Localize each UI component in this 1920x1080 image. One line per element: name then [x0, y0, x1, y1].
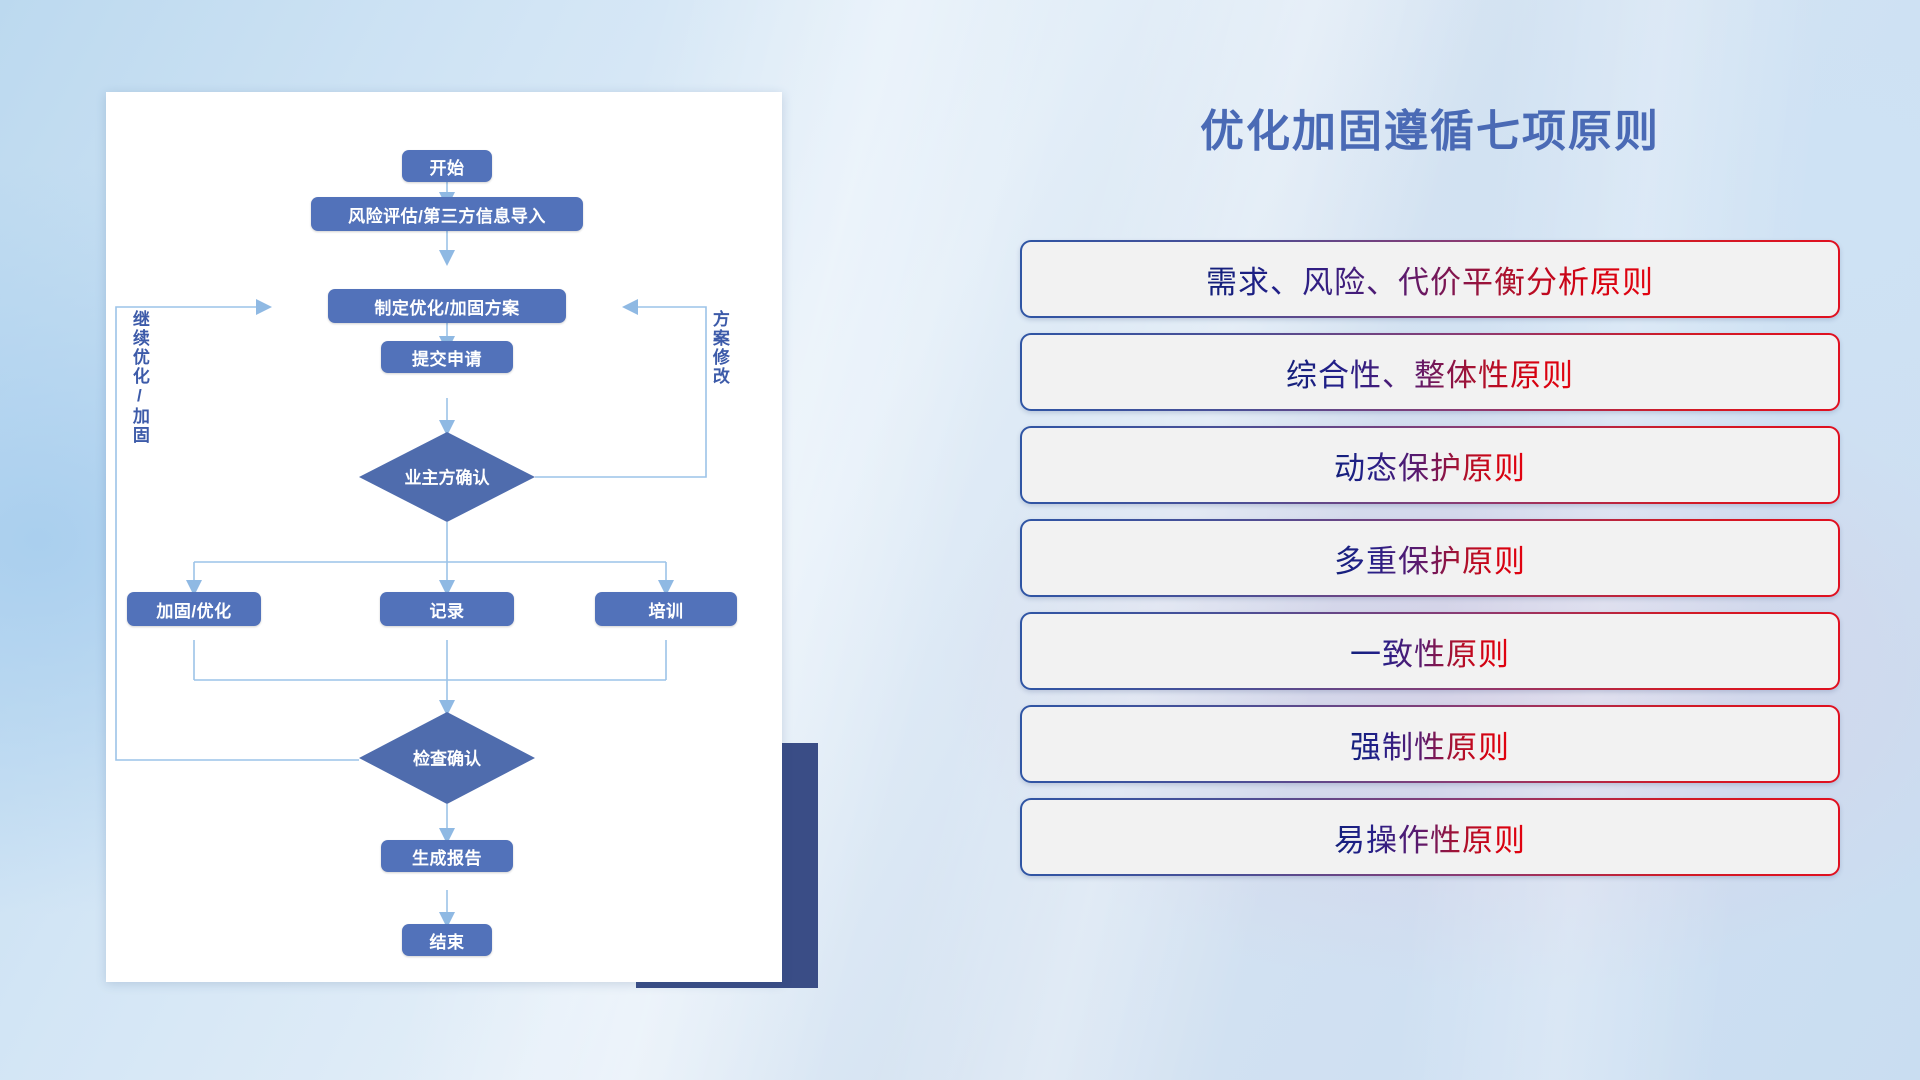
principles-list: 需求、风险、代价平衡分析原则 综合性、整体性原则 动态保护原则 多重保护原则 一…	[1020, 240, 1840, 891]
principle-card-inner: 动态保护原则	[1022, 428, 1838, 502]
node-make-plan-label: 制定优化/加固方案	[374, 294, 519, 319]
principle-card[interactable]: 一致性原则	[1020, 612, 1840, 690]
principle-card[interactable]: 多重保护原则	[1020, 519, 1840, 597]
decision-owner-confirm-label: 业主方确认	[405, 464, 490, 489]
principle-card-label: 动态保护原则	[1334, 443, 1526, 488]
node-generate-report[interactable]: 生成报告	[381, 840, 513, 872]
principle-card[interactable]: 易操作性原则	[1020, 798, 1840, 876]
node-start-label: 开始	[430, 154, 465, 179]
node-training[interactable]: 培训	[595, 592, 737, 626]
principle-card[interactable]: 强制性原则	[1020, 705, 1840, 783]
principle-card[interactable]: 需求、风险、代价平衡分析原则	[1020, 240, 1840, 318]
flowchart-canvas: 开始 风险评估/第三方信息导入 制定优化/加固方案 提交申请 加固/优化 记录 …	[106, 92, 782, 982]
node-risk-assessment[interactable]: 风险评估/第三方信息导入	[311, 197, 583, 231]
edge-label-plan-revision: 方案修改	[710, 310, 728, 386]
node-generate-report-label: 生成报告	[412, 844, 482, 869]
node-make-plan[interactable]: 制定优化/加固方案	[328, 289, 566, 323]
node-end[interactable]: 结束	[402, 924, 492, 956]
node-record-label: 记录	[430, 597, 465, 622]
node-record[interactable]: 记录	[380, 592, 514, 626]
page-title: 优化加固遵循七项原则	[1020, 80, 1840, 154]
principle-card-inner: 多重保护原则	[1022, 521, 1838, 595]
node-submit-application-label: 提交申请	[412, 345, 482, 370]
principle-card-inner: 综合性、整体性原则	[1022, 335, 1838, 409]
node-risk-assessment-label: 风险评估/第三方信息导入	[348, 202, 546, 227]
principle-card-label: 易操作性原则	[1334, 815, 1526, 860]
node-reinforce-optimize[interactable]: 加固/优化	[127, 592, 261, 626]
principle-card-inner: 强制性原则	[1022, 707, 1838, 781]
principle-card-label: 强制性原则	[1350, 722, 1510, 767]
principles-panel: 优化加固遵循七项原则 需求、风险、代价平衡分析原则 综合性、整体性原则 动态保护…	[1020, 80, 1840, 1020]
principle-card-label: 综合性、整体性原则	[1286, 350, 1574, 395]
node-reinforce-optimize-label: 加固/优化	[156, 597, 231, 622]
principle-card-label: 一致性原则	[1350, 629, 1510, 674]
node-end-label: 结束	[430, 928, 465, 953]
edge-label-continue-optimize: 继续优化/加固	[130, 310, 148, 445]
node-training-label: 培训	[649, 597, 684, 622]
principle-card-label: 需求、风险、代价平衡分析原则	[1206, 257, 1654, 302]
decision-check-confirm-label: 检查确认	[413, 745, 481, 770]
principle-card[interactable]: 动态保护原则	[1020, 426, 1840, 504]
node-submit-application[interactable]: 提交申请	[381, 341, 513, 373]
principle-card-inner: 一致性原则	[1022, 614, 1838, 688]
principle-card[interactable]: 综合性、整体性原则	[1020, 333, 1840, 411]
principle-card-inner: 需求、风险、代价平衡分析原则	[1022, 242, 1838, 316]
principle-card-inner: 易操作性原则	[1022, 800, 1838, 874]
principle-card-label: 多重保护原则	[1334, 536, 1526, 581]
node-start[interactable]: 开始	[402, 150, 492, 182]
flowchart-panel: 开始 风险评估/第三方信息导入 制定优化/加固方案 提交申请 加固/优化 记录 …	[106, 92, 782, 982]
